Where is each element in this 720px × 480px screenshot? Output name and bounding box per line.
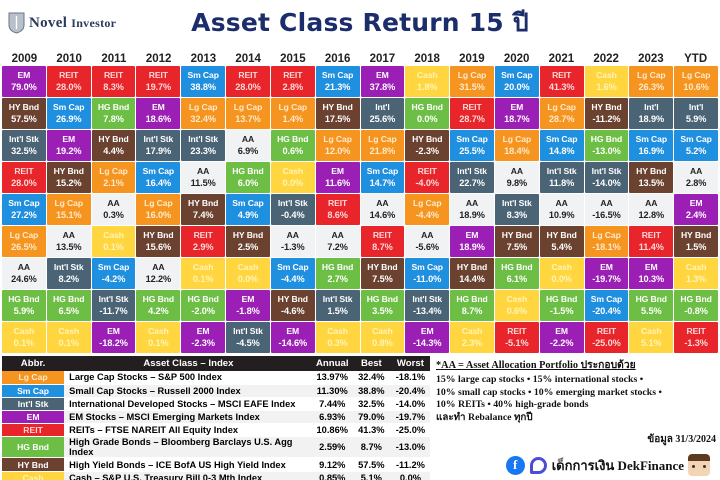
cell-abbr: EM xyxy=(600,262,613,274)
return-cell: AA-16.5% xyxy=(585,194,629,225)
legend-annual-value: 10.86% xyxy=(313,424,352,437)
cell-value: 27.2% xyxy=(11,210,37,222)
cell-value: 0.1% xyxy=(58,338,79,350)
return-cell: Int'l Stk-14.0% xyxy=(585,162,629,193)
cell-value: 2.4% xyxy=(686,210,707,222)
cell-value: 14.4% xyxy=(459,274,485,286)
return-cell: HY Bnd7.5% xyxy=(495,226,539,257)
cell-abbr: Cash xyxy=(417,70,438,82)
return-cell: Lg Cap2.1% xyxy=(92,162,136,193)
return-cell: Int'l18.9% xyxy=(629,98,673,129)
legend-annual-value: 11.30% xyxy=(313,384,352,397)
cell-abbr: Cash xyxy=(103,230,124,242)
year-header-2018: 2018 xyxy=(405,53,450,66)
return-cell: REIT28.0% xyxy=(226,66,270,97)
cell-value: -2.0% xyxy=(191,306,215,318)
cell-abbr: AA xyxy=(331,230,343,242)
legend-best-value: 38.8% xyxy=(352,384,391,397)
return-cell: EM37.8% xyxy=(361,66,405,97)
return-cell: Lg Cap13.7% xyxy=(226,98,270,129)
cell-abbr: Sm Cap xyxy=(546,134,577,146)
return-cell: HG Bnd-2.0% xyxy=(181,290,225,321)
cell-abbr: Int'l Stk xyxy=(547,166,577,178)
cell-abbr: Sm Cap xyxy=(322,70,353,82)
year-header-2022: 2022 xyxy=(584,53,629,66)
cell-value: 16.0% xyxy=(146,210,172,222)
cell-abbr: Lg Cap xyxy=(368,134,397,146)
cell-value: 28.7% xyxy=(549,114,575,126)
return-cell: Lg Cap21.8% xyxy=(361,130,405,161)
return-cell: EM-1.8% xyxy=(226,290,270,321)
return-cell: REIT-5.1% xyxy=(495,322,539,353)
facebook-icon[interactable]: f xyxy=(506,456,525,475)
cell-abbr: Int'l Stk xyxy=(278,198,308,210)
cell-value: 19.7% xyxy=(146,82,172,94)
cell-value: -18.2% xyxy=(99,338,128,350)
cell-value: 5.9% xyxy=(14,306,35,318)
return-cell: Sm Cap-20.4% xyxy=(585,290,629,321)
cell-value: 8.2% xyxy=(58,274,79,286)
cell-value: -1.3% xyxy=(281,242,305,254)
cell-abbr: Cash xyxy=(238,262,259,274)
legend-worst-value: -14.0% xyxy=(391,397,430,410)
return-cell: Sm Cap21.3% xyxy=(316,66,360,97)
return-cell: Int'l Stk-13.4% xyxy=(405,290,449,321)
cell-value: 5.2% xyxy=(686,146,707,158)
legend-worst-value: -20.4% xyxy=(391,384,430,397)
cell-abbr: Lg Cap xyxy=(10,230,39,242)
return-cell: Int'l Stk1.5% xyxy=(316,290,360,321)
return-cell: Int'l Stk-0.4% xyxy=(271,194,315,225)
cell-abbr: REIT xyxy=(194,230,213,242)
legend-best-value: 79.0% xyxy=(352,411,391,424)
cell-abbr: Sm Cap xyxy=(412,262,443,274)
cell-value: 26.9% xyxy=(56,114,82,126)
legend-best-value: 57.5% xyxy=(352,458,391,471)
legend-abbr-badge: EM xyxy=(2,411,64,424)
cell-abbr: HG Bnd xyxy=(322,262,353,274)
cell-value: -1.3% xyxy=(684,338,708,350)
legend-col-header: Annual xyxy=(313,356,352,371)
cell-abbr: HY Bnd xyxy=(591,102,621,114)
cell-value: -16.5% xyxy=(592,210,621,222)
cell-value: -14.6% xyxy=(279,338,308,350)
cell-abbr: Sm Cap xyxy=(53,102,84,114)
cell-abbr: AA xyxy=(466,198,478,210)
cell-abbr: EM xyxy=(18,70,31,82)
cell-abbr: HY Bnd xyxy=(143,230,173,242)
return-cell: Lg Cap-18.1% xyxy=(585,226,629,257)
cell-value: 26.5% xyxy=(11,242,37,254)
return-cell: HG Bnd0.0% xyxy=(405,98,449,129)
return-cell: EM19.2% xyxy=(47,130,91,161)
cell-abbr: REIT xyxy=(14,166,33,178)
return-cell: AA12.8% xyxy=(629,194,673,225)
cell-value: 28.0% xyxy=(235,82,261,94)
return-cell: EM18.7% xyxy=(495,98,539,129)
cell-value: 6.9% xyxy=(238,146,259,158)
year-header-2023: 2023 xyxy=(629,53,674,66)
return-cell: Lg Cap15.1% xyxy=(47,194,91,225)
return-cell: Sm Cap27.2% xyxy=(2,194,46,225)
return-cell: Int'l Stk8.3% xyxy=(495,194,539,225)
return-cell: HG Bnd0.6% xyxy=(271,130,315,161)
return-cell: Lg Cap26.5% xyxy=(2,226,46,257)
cell-value: 26.3% xyxy=(639,82,665,94)
year-header-2012: 2012 xyxy=(136,53,181,66)
cell-value: 25.6% xyxy=(370,114,396,126)
return-cell: Sm Cap-4.4% xyxy=(271,258,315,289)
legend-best-value: 32.4% xyxy=(352,371,391,384)
cell-abbr: Cash xyxy=(193,262,214,274)
cell-abbr: Lg Cap xyxy=(547,102,576,114)
return-cell: REIT2.9% xyxy=(181,226,225,257)
legend-row: REITREITs – FTSE NAREIT All Equity Index… xyxy=(2,424,430,437)
legend-abbr-badge: Lg Cap xyxy=(2,371,64,384)
year-header-2019: 2019 xyxy=(450,53,495,66)
cell-value: 24.6% xyxy=(11,274,37,286)
cell-abbr: HY Bnd xyxy=(367,262,397,274)
cell-value: 7.2% xyxy=(327,242,348,254)
return-cell: Cash0.3% xyxy=(316,322,360,353)
year-header-2013: 2013 xyxy=(181,53,226,66)
return-cell: REIT-4.0% xyxy=(405,162,449,193)
return-cell: Int'l Stk-11.7% xyxy=(92,290,136,321)
cell-abbr: Sm Cap xyxy=(680,134,711,146)
aa-note-line: 10% small cap stocks • 10% emerging mark… xyxy=(436,387,716,400)
cell-abbr: AA xyxy=(600,198,612,210)
return-cell: HG Bnd4.2% xyxy=(136,290,180,321)
legend-worst-value: -11.2% xyxy=(391,458,430,471)
cell-value: 11.4% xyxy=(639,242,664,254)
return-cell: Int'l Stk32.5% xyxy=(2,130,46,161)
cell-abbr: Lg Cap xyxy=(323,134,352,146)
return-cell: REIT-25.0% xyxy=(585,322,629,353)
cell-value: -11.2% xyxy=(592,114,620,126)
cell-abbr: Lg Cap xyxy=(413,198,442,210)
cell-value: 9.8% xyxy=(507,178,528,190)
cell-value: 11.5% xyxy=(191,178,216,190)
legend-worst-value: -13.0% xyxy=(391,437,430,458)
legend-row: EMEM Stocks – MSCI Emerging Markets Inde… xyxy=(2,411,430,424)
cell-value: 5.9% xyxy=(686,114,707,126)
legend-col-header: Abbr. xyxy=(2,356,64,371)
cell-value: 7.5% xyxy=(507,242,528,254)
cell-abbr: HY Bnd xyxy=(322,102,352,114)
return-cell: AA6.9% xyxy=(226,130,270,161)
cell-value: 7.4% xyxy=(193,210,214,222)
return-cell: Int'l Stk-4.5% xyxy=(226,322,270,353)
return-cell: Sm Cap16.4% xyxy=(136,162,180,193)
cell-value: -4.5% xyxy=(236,338,260,350)
cell-abbr: Sm Cap xyxy=(367,166,398,178)
legend-col-header: Best xyxy=(352,356,391,371)
cell-abbr: EM xyxy=(421,326,434,338)
return-cell: Cash0.1% xyxy=(2,322,46,353)
return-cell: AA2.8% xyxy=(674,162,718,193)
legend-row: Sm CapSmall Cap Stocks – Russell 2000 In… xyxy=(2,384,430,397)
cell-abbr: Cash xyxy=(686,262,707,274)
return-cell: HY Bnd5.4% xyxy=(540,226,584,257)
cell-abbr: EM xyxy=(286,326,299,338)
year-header-2015: 2015 xyxy=(271,53,316,66)
return-cell: Sm Cap14.7% xyxy=(361,162,405,193)
cell-value: 2.8% xyxy=(283,82,304,94)
legend-index-name: International Developed Stocks – MSCI EA… xyxy=(64,397,313,410)
cell-value: -4.4% xyxy=(415,210,439,222)
cell-abbr: Int'l Stk xyxy=(99,294,129,306)
legend-index-name: Cash – S&P U.S. Treasury Bill 0-3 Mth In… xyxy=(64,471,313,480)
cell-abbr: HG Bnd xyxy=(501,262,532,274)
legend-row: CashCash – S&P U.S. Treasury Bill 0-3 Mt… xyxy=(2,471,430,480)
cell-abbr: HG Bnd xyxy=(546,294,577,306)
return-cell: AA18.9% xyxy=(450,194,494,225)
cell-abbr: REIT xyxy=(552,70,571,82)
return-cell: AA9.8% xyxy=(495,162,539,193)
cell-abbr: Lg Cap xyxy=(234,102,263,114)
cell-value: 10.9% xyxy=(549,210,575,222)
cell-value: -0.4% xyxy=(281,210,305,222)
cell-abbr: Lg Cap xyxy=(54,198,83,210)
return-cell: EM18.9% xyxy=(450,226,494,257)
legend-annual-value: 13.97% xyxy=(313,371,352,384)
brand-name-primary: Novel xyxy=(29,15,67,31)
legend-worst-value: -25.0% xyxy=(391,424,430,437)
cell-value: -1.5% xyxy=(550,306,574,318)
return-cell: HG Bnd-13.0% xyxy=(585,130,629,161)
cell-abbr: HG Bnd xyxy=(367,294,398,306)
cell-value: -13.0% xyxy=(592,146,621,158)
cell-abbr: Lg Cap xyxy=(189,102,218,114)
return-cell: Int'l Stk8.2% xyxy=(47,258,91,289)
aa-note-title: *AA = Asset Allocation Portfolio ประกอบด… xyxy=(436,356,716,373)
cell-abbr: AA xyxy=(376,198,388,210)
social-footer: f เด็กการเงิน DekFinance xyxy=(506,454,710,476)
cell-abbr: HY Bnd xyxy=(54,166,84,178)
cell-value: -11.7% xyxy=(100,306,128,318)
cell-value: -2.3% xyxy=(415,146,439,158)
cell-abbr: REIT xyxy=(283,70,302,82)
return-cell: HG Bnd-0.8% xyxy=(674,290,718,321)
return-cell: Sm Cap14.8% xyxy=(540,130,584,161)
cell-abbr: Sm Cap xyxy=(143,166,174,178)
cell-value: 5.5% xyxy=(641,306,662,318)
cell-abbr: Int'l Stk xyxy=(457,166,487,178)
return-cell: HY Bnd2.5% xyxy=(226,226,270,257)
return-cell: EM-2.3% xyxy=(181,322,225,353)
cell-value: 13.5% xyxy=(639,178,665,190)
return-cell: HG Bnd6.1% xyxy=(495,258,539,289)
cell-abbr: Int'l Stk xyxy=(233,326,263,338)
cell-abbr: HG Bnd xyxy=(53,294,84,306)
cell-abbr: Sm Cap xyxy=(591,294,622,306)
cell-value: 20.0% xyxy=(504,82,530,94)
cell-abbr: AA xyxy=(690,166,702,178)
legend-index-name: High Yield Bonds – ICE BofA US High Yiel… xyxy=(64,458,313,471)
cell-abbr: Sm Cap xyxy=(187,70,218,82)
legend-row: Int'l StkInternational Developed Stocks … xyxy=(2,397,430,410)
cell-abbr: Cash xyxy=(58,326,79,338)
cell-value: -19.7% xyxy=(592,274,621,286)
return-cell: Int'l25.6% xyxy=(361,98,405,129)
legend-best-value: 32.5% xyxy=(352,397,391,410)
cell-value: 0.6% xyxy=(507,306,528,318)
cell-value: 28.0% xyxy=(11,178,37,190)
return-cell: HG Bnd5.5% xyxy=(629,290,673,321)
avatar xyxy=(688,454,710,476)
cell-value: 41.3% xyxy=(549,82,575,94)
return-cell: AA-1.3% xyxy=(271,226,315,257)
cell-abbr: HG Bnd xyxy=(143,294,174,306)
cell-value: 12.0% xyxy=(325,146,351,158)
return-cell: Int'l Stk22.7% xyxy=(450,162,494,193)
return-cell: Cash0.1% xyxy=(181,258,225,289)
cell-value: 31.5% xyxy=(459,82,485,94)
return-cell: Sm Cap38.8% xyxy=(181,66,225,97)
cell-abbr: Int'l xyxy=(689,102,703,114)
cell-value: 8.3% xyxy=(507,210,528,222)
cell-value: 0.0% xyxy=(551,274,572,286)
return-cell: Cash1.3% xyxy=(674,258,718,289)
aa-note-line: และทำ Rebalance ทุกปี xyxy=(436,412,716,425)
data-as-of-date: ข้อมูล 31/3/2024 xyxy=(436,432,716,447)
return-cell: REIT8.6% xyxy=(316,194,360,225)
return-cell: Sm Cap16.9% xyxy=(629,130,673,161)
cell-value: 2.7% xyxy=(327,274,348,286)
cell-abbr: REIT xyxy=(149,70,168,82)
legend-row: Lg CapLarge Cap Stocks – S&P 500 Index13… xyxy=(2,371,430,384)
cell-value: 1.3% xyxy=(686,274,707,286)
cell-value: 8.6% xyxy=(327,210,348,222)
cell-abbr: EM xyxy=(555,326,568,338)
cell-value: 38.8% xyxy=(190,82,216,94)
cell-value: 16.9% xyxy=(639,146,665,158)
cell-value: 0.0% xyxy=(238,274,259,286)
return-cell: AA10.9% xyxy=(540,194,584,225)
cell-value: 8.7% xyxy=(372,242,393,254)
legend-abbr-badge: REIT xyxy=(2,424,64,437)
return-cell: Cash0.0% xyxy=(226,258,270,289)
cell-value: 7.8% xyxy=(103,114,124,126)
legend-index-name: High Grade Bonds – Bloomberg Barclays U.… xyxy=(64,437,313,458)
cell-abbr: AA xyxy=(421,230,433,242)
return-cell: Lg Cap26.3% xyxy=(629,66,673,97)
return-cell: HG Bnd6.5% xyxy=(47,290,91,321)
cell-value: 4.2% xyxy=(148,306,169,318)
cell-value: 1.4% xyxy=(283,114,304,126)
asset-return-grid: EM79.0%REIT28.0%REIT8.3%REIT19.7%Sm Cap3… xyxy=(2,66,718,353)
cell-abbr: Sm Cap xyxy=(636,134,667,146)
return-cell: EM-14.6% xyxy=(271,322,315,353)
cell-value: -20.4% xyxy=(592,306,621,318)
cell-abbr: HY Bnd xyxy=(412,134,442,146)
cell-value: 10.3% xyxy=(639,274,665,286)
return-cell: Lg Cap-4.4% xyxy=(405,194,449,225)
cell-abbr: Cash xyxy=(282,166,303,178)
cell-abbr: AA xyxy=(18,262,30,274)
cell-abbr: REIT xyxy=(238,70,257,82)
return-cell: HG Bnd6.0% xyxy=(226,162,270,193)
cell-value: 11.6% xyxy=(325,178,350,190)
return-cell: Cash0.0% xyxy=(271,162,315,193)
legend-annual-value: 0.85% xyxy=(313,471,352,480)
cell-value: 11.8% xyxy=(549,178,574,190)
cell-abbr: AA xyxy=(645,198,657,210)
cell-abbr: REIT xyxy=(373,230,392,242)
cell-abbr: HG Bnd xyxy=(636,294,667,306)
cell-value: -4.0% xyxy=(415,178,439,190)
cell-value: 2.1% xyxy=(103,178,124,190)
cell-abbr: EM xyxy=(242,294,255,306)
cell-abbr: HG Bnd xyxy=(412,102,443,114)
year-header-2020: 2020 xyxy=(494,53,539,66)
cell-abbr: Sm Cap xyxy=(232,198,263,210)
return-cell: REIT2.8% xyxy=(271,66,315,97)
cell-abbr: AA xyxy=(287,230,299,242)
cell-abbr: HG Bnd xyxy=(8,294,39,306)
cell-abbr: Cash xyxy=(148,326,169,338)
cell-value: 21.8% xyxy=(370,146,396,158)
return-cell: HY Bnd14.4% xyxy=(450,258,494,289)
cell-value: 7.5% xyxy=(372,274,393,286)
cell-abbr: Lg Cap xyxy=(637,70,666,82)
cell-abbr: HY Bnd xyxy=(278,294,308,306)
return-cell: HG Bnd5.9% xyxy=(2,290,46,321)
cell-abbr: HY Bnd xyxy=(98,134,128,146)
cell-abbr: Cash xyxy=(327,326,348,338)
return-cell: Sm Cap5.2% xyxy=(674,130,718,161)
cell-abbr: HG Bnd xyxy=(456,294,487,306)
cell-abbr: HY Bnd xyxy=(547,230,577,242)
return-cell: EM-18.2% xyxy=(92,322,136,353)
year-header-2010: 2010 xyxy=(47,53,92,66)
cell-value: 0.3% xyxy=(103,210,124,222)
return-cell: Int'l Stk11.8% xyxy=(540,162,584,193)
return-cell: REIT41.3% xyxy=(540,66,584,97)
cell-value: -0.8% xyxy=(684,306,708,318)
cell-value: 5.4% xyxy=(551,242,572,254)
cell-abbr: Cash xyxy=(641,326,662,338)
legend-index-name: Large Cap Stocks – S&P 500 Index xyxy=(64,371,313,384)
return-cell: Cash2.3% xyxy=(450,322,494,353)
return-cell: Cash0.8% xyxy=(361,322,405,353)
legend-abbr-badge: Int'l Stk xyxy=(2,397,64,410)
cell-value: 37.8% xyxy=(370,82,396,94)
return-cell: HY Bnd57.5% xyxy=(2,98,46,129)
year-header-row: 2009201020112012201320142015201620172018… xyxy=(0,46,720,66)
cell-abbr: Cash xyxy=(462,326,483,338)
line-icon[interactable] xyxy=(529,456,548,475)
cell-value: 21.3% xyxy=(325,82,351,94)
cell-abbr: Sm Cap xyxy=(8,198,39,210)
cell-abbr: HG Bnd xyxy=(187,294,218,306)
return-cell: AA0.3% xyxy=(92,194,136,225)
cell-value: -4.6% xyxy=(281,306,305,318)
cell-abbr: HY Bnd xyxy=(9,102,39,114)
return-cell: HG Bnd2.7% xyxy=(316,258,360,289)
return-cell: Lg Cap10.6% xyxy=(674,66,718,97)
year-header-2009: 2009 xyxy=(2,53,47,66)
return-cell: EM2.4% xyxy=(674,194,718,225)
brand-name-secondary: Investor xyxy=(71,16,116,30)
cell-value: 15.2% xyxy=(56,178,82,190)
legend-row: HY BndHigh Yield Bonds – ICE BofA US Hig… xyxy=(2,458,430,471)
cell-value: 15.6% xyxy=(146,242,172,254)
return-cell: Int'l5.9% xyxy=(674,98,718,129)
cell-abbr: Sm Cap xyxy=(456,134,487,146)
cell-value: 6.0% xyxy=(238,178,259,190)
cell-abbr: EM xyxy=(107,326,120,338)
